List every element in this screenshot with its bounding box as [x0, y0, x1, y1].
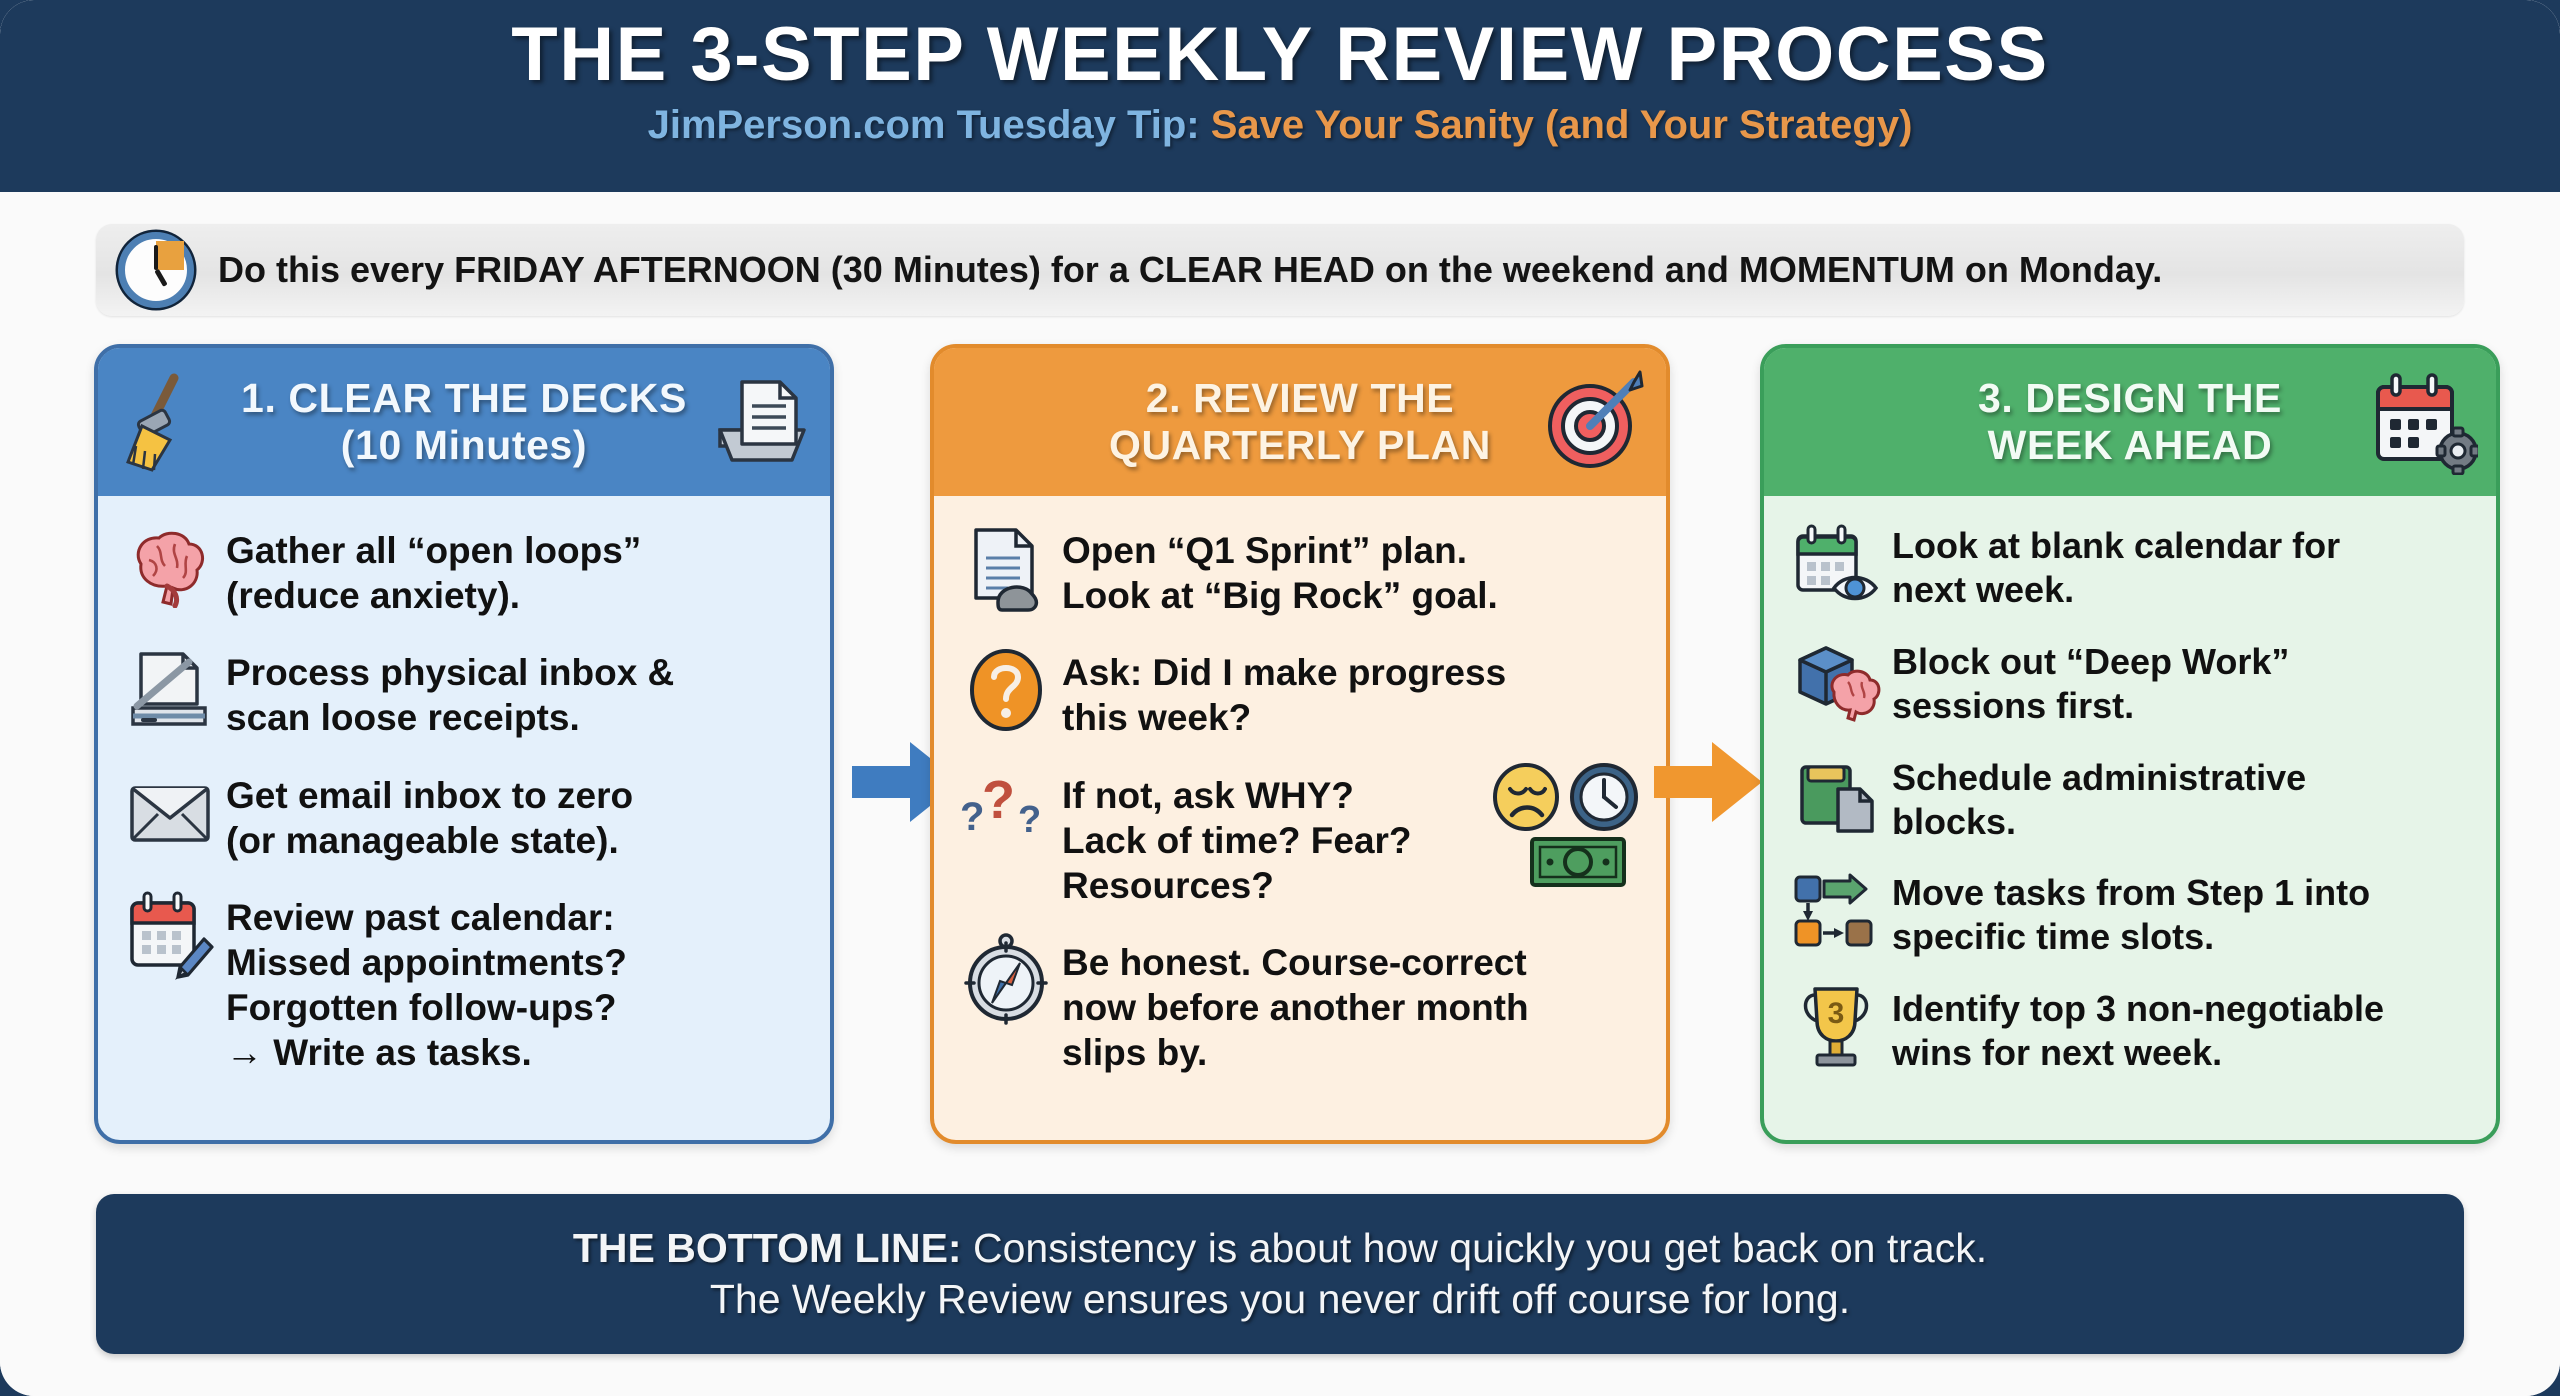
- step-3-title-line1: 3. DESIGN THE: [1978, 375, 2282, 421]
- calendar-pencil-icon: [122, 889, 218, 981]
- schedule-note-text: Do this every FRIDAY AFTERNOON (30 Minut…: [218, 249, 2162, 291]
- page-subtitle: JimPerson.com Tuesday Tip: Save Your San…: [0, 102, 2560, 148]
- infographic-poster: THE 3-STEP WEEKLY REVIEW PROCESS JimPers…: [0, 0, 2560, 1396]
- step-3-title: 3. DESIGN THE WEEK AHEAD: [1978, 375, 2282, 468]
- list-item-text: Schedule administrative blocks.: [1884, 750, 2306, 844]
- schedule-note-bar: Do this every FRIDAY AFTERNOON (30 Minut…: [96, 224, 2464, 316]
- list-item-text: Move tasks from Step 1 into specific tim…: [1884, 865, 2370, 959]
- list-item-text: Open “Q1 Sprint” plan. Look at “Big Rock…: [1054, 522, 1498, 618]
- svg-text:3: 3: [1828, 997, 1845, 1030]
- list-item: Schedule administrative blocks.: [1788, 750, 2476, 844]
- list-item: Look at blank calendar for next week.: [1788, 518, 2476, 612]
- svg-text:?: ?: [982, 770, 1015, 830]
- money-bill-icon: [1532, 839, 1624, 885]
- arrow-step2-to-step3: [1652, 736, 1764, 828]
- list-item: Be honest. Course-correct now before ano…: [958, 934, 1646, 1075]
- calendar-gear-icon: [2368, 369, 2478, 475]
- list-item-text: Look at blank calendar for next week.: [1884, 518, 2340, 612]
- svg-text:?: ?: [960, 795, 984, 839]
- step-1-header: 1. CLEAR THE DECKS (10 Minutes): [98, 348, 830, 496]
- list-item: 3 Identify top 3 non-negotiable wins for…: [1788, 981, 2476, 1075]
- step-1-body: Gather all “open loops” (reduce anxiety)…: [98, 496, 830, 1075]
- compass-icon: [958, 934, 1054, 1026]
- broom-icon: [112, 366, 208, 478]
- poster-header: THE 3-STEP WEEKLY REVIEW PROCESS JimPers…: [0, 0, 2560, 192]
- list-item: ? ? ? If not, ask WHY? Lack of time? Fea…: [958, 767, 1646, 908]
- list-item: Move tasks from Step 1 into specific tim…: [1788, 865, 2476, 959]
- step-2-title-line2: QUARTERLY PLAN: [1109, 422, 1491, 468]
- step-1-title: 1. CLEAR THE DECKS (10 Minutes): [241, 375, 687, 468]
- step-3-body: Look at blank calendar for next week.: [1764, 496, 2496, 1075]
- step-2-body: Open “Q1 Sprint” plan. Look at “Big Rock…: [934, 496, 1666, 1075]
- list-item: Get email inbox to zero (or manageable s…: [122, 767, 810, 863]
- bottom-line-banner: THE BOTTOM LINE: Consistency is about ho…: [96, 1194, 2464, 1354]
- list-item-text: Ask: Did I make progress this week?: [1054, 644, 1506, 740]
- bottom-line-1: THE BOTTOM LINE: Consistency is about ho…: [573, 1223, 1987, 1274]
- folder-file-icon: [1788, 750, 1884, 842]
- step-2-header: 2. REVIEW THE QUARTERLY PLAN: [934, 348, 1666, 496]
- list-item-text: Identify top 3 non-negotiable wins for n…: [1884, 981, 2384, 1075]
- bottom-line-rest: Consistency is about how quickly you get…: [962, 1225, 1988, 1271]
- subtitle-tagline: Save Your Sanity (and Your Strategy): [1211, 103, 1913, 147]
- list-item: Ask: Did I make progress this week?: [958, 644, 1646, 740]
- list-item-text: Get email inbox to zero (or manageable s…: [218, 767, 633, 863]
- step-3-title-line2: WEEK AHEAD: [1988, 422, 2273, 468]
- step-2-title-line1: 2. REVIEW THE: [1146, 375, 1455, 421]
- calendar-eye-icon: [1788, 518, 1884, 610]
- list-item-text: If not, ask WHY? Lack of time? Fear? Res…: [1054, 767, 1412, 908]
- envelope-icon: [122, 767, 218, 859]
- document-rock-icon: [958, 522, 1054, 614]
- step-3-header: 3. DESIGN THE WEEK AHEAD: [1764, 348, 2496, 496]
- list-item-text: Be honest. Course-correct now before ano…: [1054, 934, 1529, 1075]
- poster-body: Do this every FRIDAY AFTERNOON (30 Minut…: [0, 192, 2560, 1396]
- step-card-1[interactable]: 1. CLEAR THE DECKS (10 Minutes): [94, 344, 834, 1144]
- list-item-text: Block out “Deep Work” sessions first.: [1884, 634, 2289, 728]
- step-1-title-line2: (10 Minutes): [341, 422, 587, 468]
- list-item: Gather all “open loops” (reduce anxiety)…: [122, 522, 810, 618]
- target-dart-icon: [1542, 370, 1648, 474]
- sad-face-icon: [1495, 765, 1557, 829]
- bottom-line-lead: THE BOTTOM LINE:: [573, 1225, 962, 1271]
- question-mark-circle-icon: [958, 644, 1054, 736]
- clock-icon: [118, 232, 194, 308]
- steps-row: 1. CLEAR THE DECKS (10 Minutes): [0, 344, 2560, 1174]
- inbox-tray-icon: [712, 372, 812, 472]
- list-item: Open “Q1 Sprint” plan. Look at “Big Rock…: [958, 522, 1646, 618]
- list-item-text: Gather all “open loops” (reduce anxiety)…: [218, 522, 641, 618]
- step-2-title: 2. REVIEW THE QUARTERLY PLAN: [1109, 375, 1491, 468]
- triple-question-icon: ? ? ?: [958, 767, 1054, 859]
- list-item-text: Process physical inbox & scan loose rece…: [218, 644, 674, 740]
- bottom-line-2: The Weekly Review ensures you never drif…: [710, 1274, 1850, 1325]
- clock-icon: [1572, 765, 1636, 829]
- list-item: Review past calendar: Missed appointment…: [122, 889, 810, 1076]
- list-item-text: Review past calendar: Missed appointment…: [218, 889, 627, 1076]
- svg-text:?: ?: [1018, 799, 1041, 841]
- subtitle-site: JimPerson.com Tuesday Tip:: [648, 103, 1200, 147]
- step-1-title-line1: 1. CLEAR THE DECKS: [241, 375, 687, 421]
- scanner-icon: [122, 644, 218, 736]
- step-card-2[interactable]: 2. REVIEW THE QUARTERLY PLAN: [930, 344, 1670, 1144]
- trophy-3-icon: 3: [1788, 981, 1884, 1073]
- brain-icon: [122, 522, 218, 614]
- move-tasks-icon: [1788, 865, 1884, 957]
- page-title: THE 3-STEP WEEKLY REVIEW PROCESS: [0, 14, 2560, 96]
- list-item: Process physical inbox & scan loose rece…: [122, 644, 810, 740]
- cube-brain-icon: [1788, 634, 1884, 726]
- step-card-3[interactable]: 3. DESIGN THE WEEK AHEAD: [1760, 344, 2500, 1144]
- emotion-icon-cluster: [1490, 761, 1650, 891]
- list-item: Block out “Deep Work” sessions first.: [1788, 634, 2476, 728]
